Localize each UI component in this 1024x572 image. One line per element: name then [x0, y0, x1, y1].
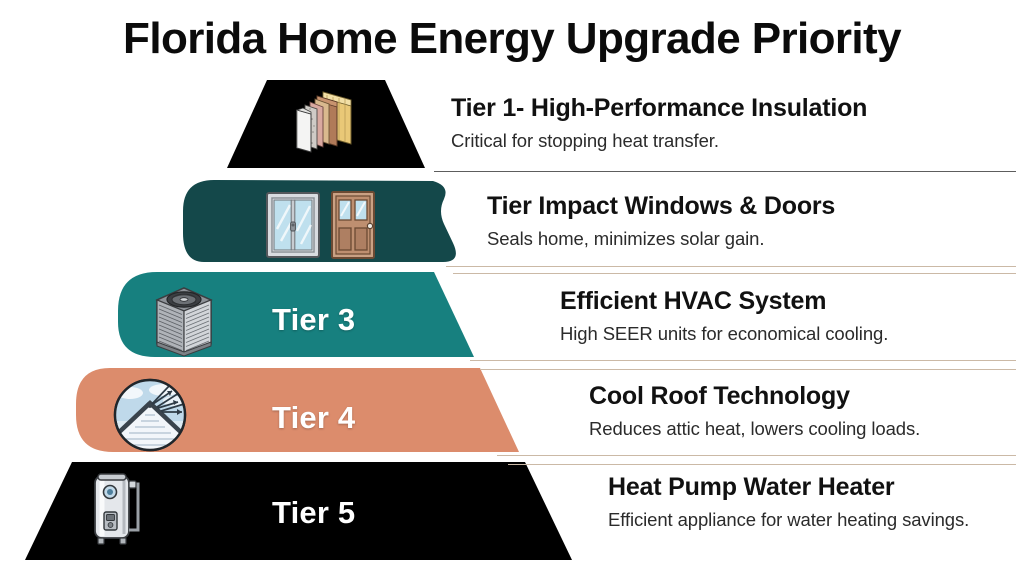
- tier-heading-4: Cool Roof Technology: [589, 383, 920, 411]
- tier-sub-4: Reduces attic heat, lowers cooling loads…: [589, 417, 920, 440]
- tier-sub-5: Efficient appliance for water heating sa…: [608, 508, 969, 531]
- band-label-tier-4: Tier 4: [272, 400, 355, 436]
- tier-description-3: Efficient HVAC System High SEER units fo…: [560, 288, 888, 345]
- impact-window-icon: [264, 189, 322, 261]
- divider-tier-3-lower: [480, 369, 1016, 370]
- divider-tier-4-upper: [497, 455, 1016, 456]
- divider-tier-3-upper: [470, 360, 1016, 361]
- tier-heading-2: Tier Impact Windows & Doors: [487, 193, 835, 221]
- divider-tier-4-lower: [508, 464, 1016, 465]
- divider-tier-1: [434, 171, 1016, 172]
- band-label-tier-3: Tier 3: [272, 302, 355, 338]
- divider-tier-2-upper: [446, 266, 1016, 267]
- divider-tier-2-lower: [453, 273, 1016, 274]
- tier-sub-2: Seals home, minimizes solar gain.: [487, 227, 835, 250]
- tier-sub-1: Critical for stopping heat transfer.: [451, 129, 867, 152]
- tier-sub-3: High SEER units for economical cooling.: [560, 322, 888, 345]
- tier-description-4: Cool Roof Technology Reduces attic heat,…: [589, 383, 920, 440]
- hvac-condenser-icon: [148, 280, 220, 358]
- tier-description-1: Tier 1- High-Performance Insulation Crit…: [451, 95, 867, 152]
- band-label-tier-5: Tier 5: [272, 495, 355, 531]
- tier-heading-5: Heat Pump Water Heater: [608, 474, 969, 502]
- insulation-wall-section-icon: [289, 86, 363, 160]
- infographic-canvas: Florida Home Energy Upgrade Priority Tie…: [0, 0, 1024, 572]
- tier-heading-3: Efficient HVAC System: [560, 288, 888, 316]
- tier-heading-1: Tier 1- High-Performance Insulation: [451, 95, 867, 123]
- impact-door-icon: [330, 189, 376, 261]
- tier-description-5: Heat Pump Water Heater Efficient applian…: [608, 474, 969, 531]
- water-heater-tank-icon: [85, 470, 149, 550]
- tier-description-2: Tier Impact Windows & Doors Seals home, …: [487, 193, 835, 250]
- cool-roof-reflection-icon: [112, 377, 188, 453]
